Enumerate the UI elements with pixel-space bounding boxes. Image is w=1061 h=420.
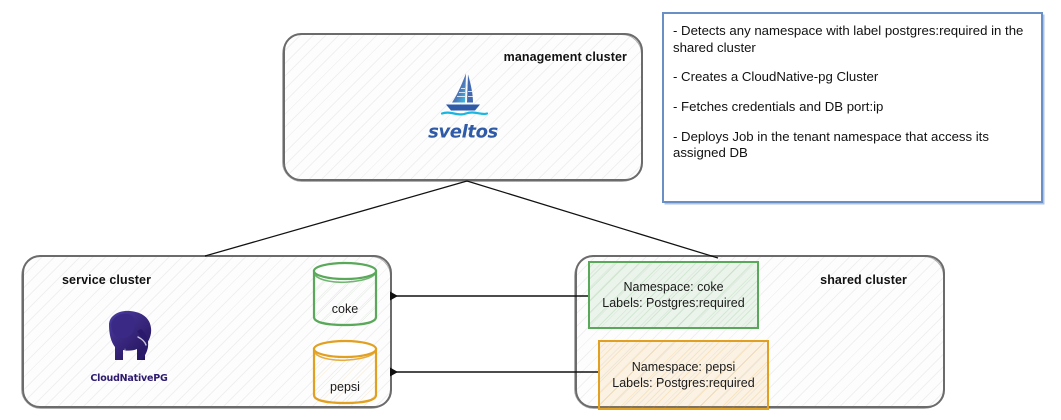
database-label-pepsi: pepsi — [308, 380, 382, 394]
database-label-coke: coke — [308, 302, 382, 316]
note-line-3: - Fetches credentials and DB port:ip — [673, 99, 1030, 116]
diagram-canvas: management cluster — [0, 0, 1061, 420]
note-box: - Detects any namespace with label postg… — [662, 12, 1043, 203]
namespace-pepsi-labels: Labels: Postgres:required — [612, 375, 754, 391]
service-cluster-label: service cluster — [62, 273, 151, 287]
namespace-coke-labels: Labels: Postgres:required — [602, 295, 744, 311]
management-cluster-box[interactable]: management cluster — [283, 33, 643, 181]
namespace-coke-name: Namespace: coke — [623, 279, 723, 295]
management-cluster-label: management cluster — [504, 50, 627, 64]
database-cylinder-icon — [308, 260, 382, 328]
namespace-pepsi-name: Namespace: pepsi — [632, 359, 736, 375]
sveltos-wordmark: sveltos — [415, 122, 511, 143]
connector-management-to-service — [205, 181, 467, 256]
note-line-2: - Creates a CloudNative-pg Cluster — [673, 69, 1030, 86]
namespace-box-coke[interactable]: Namespace: coke Labels: Postgres:require… — [588, 261, 759, 329]
database-cylinder-coke[interactable]: coke — [308, 260, 382, 328]
cloudnativepg-logo: CloudNativePG — [79, 305, 179, 384]
note-line-1: - Detects any namespace with label postg… — [673, 23, 1030, 56]
cloudnativepg-elephant-icon — [92, 305, 166, 367]
sveltos-logo: sveltos — [415, 72, 511, 143]
sveltos-sailboat-icon — [432, 72, 494, 120]
namespace-box-pepsi[interactable]: Namespace: pepsi Labels: Postgres:requir… — [598, 340, 769, 410]
note-line-4: - Deploys Job in the tenant namespace th… — [673, 129, 1030, 162]
shared-cluster-label: shared cluster — [820, 273, 907, 287]
database-cylinder-icon — [308, 338, 382, 406]
database-cylinder-pepsi[interactable]: pepsi — [308, 338, 382, 406]
cloudnativepg-wordmark: CloudNativePG — [79, 373, 179, 384]
